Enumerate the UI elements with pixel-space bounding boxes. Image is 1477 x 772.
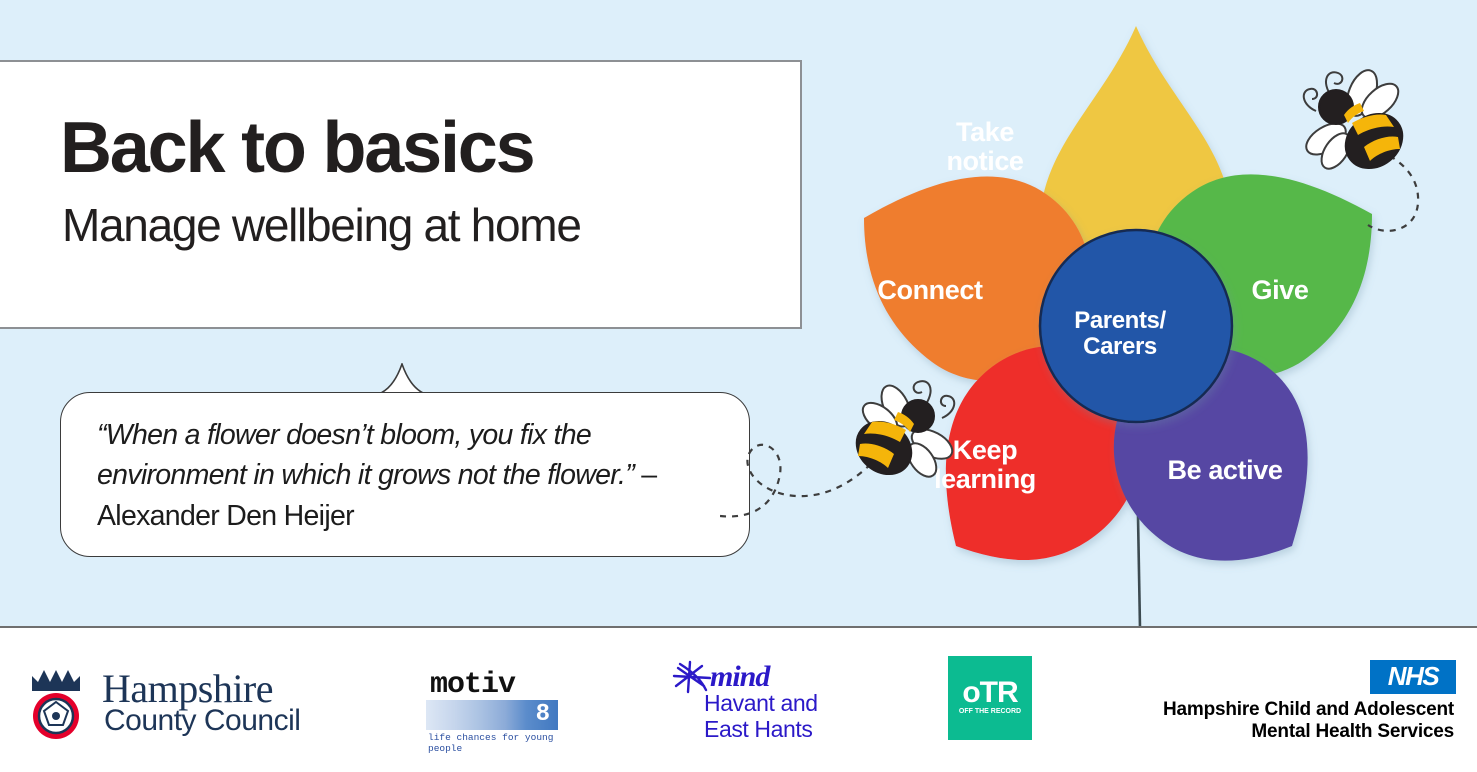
motiv8-gradient-bar: 8 bbox=[426, 700, 558, 730]
quote-text: “When a flower doesn’t bloom, you fix th… bbox=[97, 415, 737, 536]
otr-wordmark: oTR bbox=[948, 678, 1032, 708]
poster: Back to basics Manage wellbeing at home … bbox=[0, 0, 1477, 772]
mind-line1: Havant and bbox=[704, 692, 818, 715]
logo-hampshire-county-council: Hampshire County Council bbox=[22, 664, 322, 744]
motiv8-wordmark: motiv bbox=[430, 668, 515, 702]
mind-scribble-icon bbox=[672, 660, 714, 694]
logo-nhs-hampshire-camhs: NHS Hampshire Child and Adolescent Menta… bbox=[1156, 660, 1456, 742]
quote-bubble: “When a flower doesn’t bloom, you fix th… bbox=[60, 392, 750, 557]
mind-line2: East Hants bbox=[704, 718, 813, 741]
flower-center-circle bbox=[1040, 230, 1232, 422]
nhs-wordmark: NHS bbox=[1370, 663, 1456, 689]
title-card: Back to basics Manage wellbeing at home bbox=[0, 60, 802, 329]
bee-body-top-right bbox=[1301, 66, 1413, 179]
bee-top-right bbox=[1290, 55, 1477, 245]
quote-body: “When a flower doesn’t bloom, you fix th… bbox=[97, 419, 641, 491]
mind-wordmark: mind bbox=[710, 660, 769, 694]
nhs-logo-box: NHS bbox=[1370, 660, 1456, 694]
partner-logo-bar: Hampshire County Council motiv 8 life ch… bbox=[0, 630, 1477, 772]
nhs-line1: Hampshire Child and Adolescent bbox=[1163, 700, 1454, 719]
otr-tagline: OFF THE RECORD bbox=[948, 708, 1032, 715]
hampshire-wordmark: Hampshire bbox=[102, 669, 273, 709]
motiv8-numeral: 8 bbox=[536, 702, 550, 728]
page-subtitle: Manage wellbeing at home bbox=[62, 202, 581, 248]
poster-stage: Back to basics Manage wellbeing at home … bbox=[0, 0, 1477, 628]
logo-mind-havant-east-hants: mind Havant and East Hants bbox=[672, 660, 852, 746]
hampshire-crest-icon bbox=[22, 666, 92, 742]
bee-left bbox=[720, 378, 970, 548]
logo-motiv8: motiv 8 life chances for young people bbox=[424, 668, 564, 744]
bee-trail-left bbox=[720, 445, 882, 517]
page-title: Back to basics bbox=[60, 112, 533, 184]
quote-bubble-tail bbox=[368, 363, 436, 395]
nhs-line2: Mental Health Services bbox=[1251, 722, 1454, 741]
motiv8-tagline: life chances for young people bbox=[428, 732, 564, 754]
logo-otr-off-the-record: oTR OFF THE RECORD bbox=[948, 656, 1032, 740]
bee-body-left bbox=[846, 381, 957, 485]
hampshire-subtext: County Council bbox=[104, 706, 300, 736]
